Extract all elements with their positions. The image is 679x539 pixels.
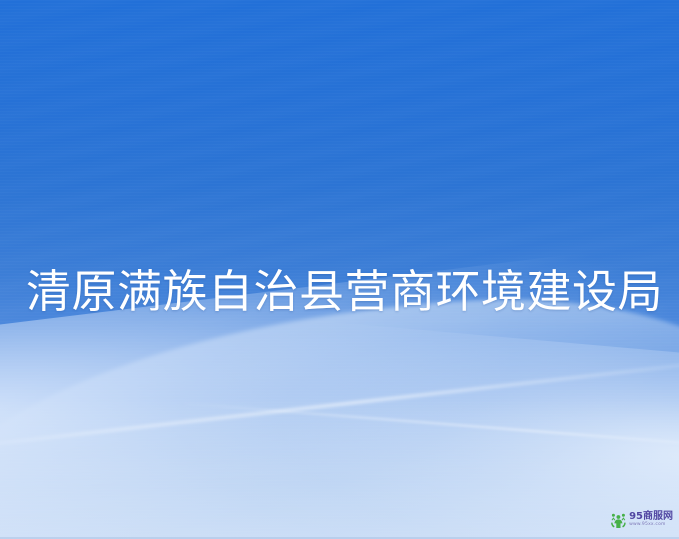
site-banner: 清原满族自治县营商环境建设局 95商服网 www.95xx.com <box>0 0 679 539</box>
watermark-text-group: 95商服网 www.95xx.com <box>629 512 673 528</box>
watermark-url: www.95xx.com <box>629 523 673 528</box>
watermark: 95商服网 www.95xx.com <box>610 511 673 529</box>
watermark-name: 95商服网 <box>629 512 673 522</box>
page-title: 清原满族自治县营商环境建设局 <box>26 262 663 322</box>
people-figures-logo-icon <box>610 511 627 529</box>
